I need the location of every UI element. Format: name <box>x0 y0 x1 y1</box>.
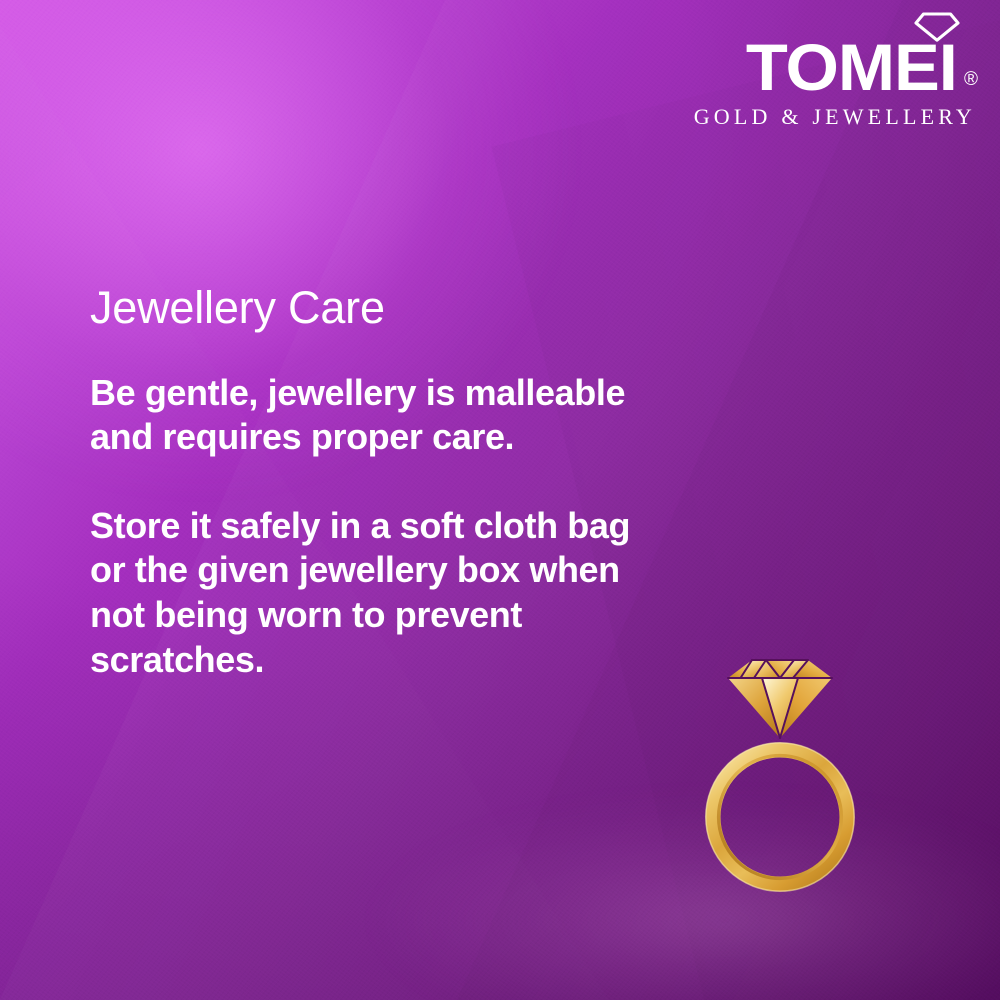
care-copy-block: Jewellery Care Be gentle, jewellery is m… <box>90 283 690 682</box>
registered-trademark-icon: ® <box>964 70 978 89</box>
care-tip-paragraph-1: Be gentle, jewellery is malleable and re… <box>90 371 635 460</box>
care-tip-paragraph-2: Store it safely in a soft cloth bag or t… <box>90 504 635 683</box>
jewellery-care-poster: TOMEI ® GOLD & JEWELLERY Jewellery Care … <box>0 0 1000 1000</box>
logo-wordmark: TOMEI <box>746 36 957 98</box>
ring-band <box>706 743 854 891</box>
logo-wordmark-row: TOMEI ® <box>648 36 978 98</box>
page-title: Jewellery Care <box>90 283 690 333</box>
gem-crown <box>728 660 832 678</box>
tomei-logo: TOMEI ® GOLD & JEWELLERY <box>648 8 978 130</box>
gem-pavilion <box>728 678 832 738</box>
gold-diamond-ring-illustration <box>690 645 870 905</box>
logo-tagline: GOLD & JEWELLERY <box>648 104 976 130</box>
